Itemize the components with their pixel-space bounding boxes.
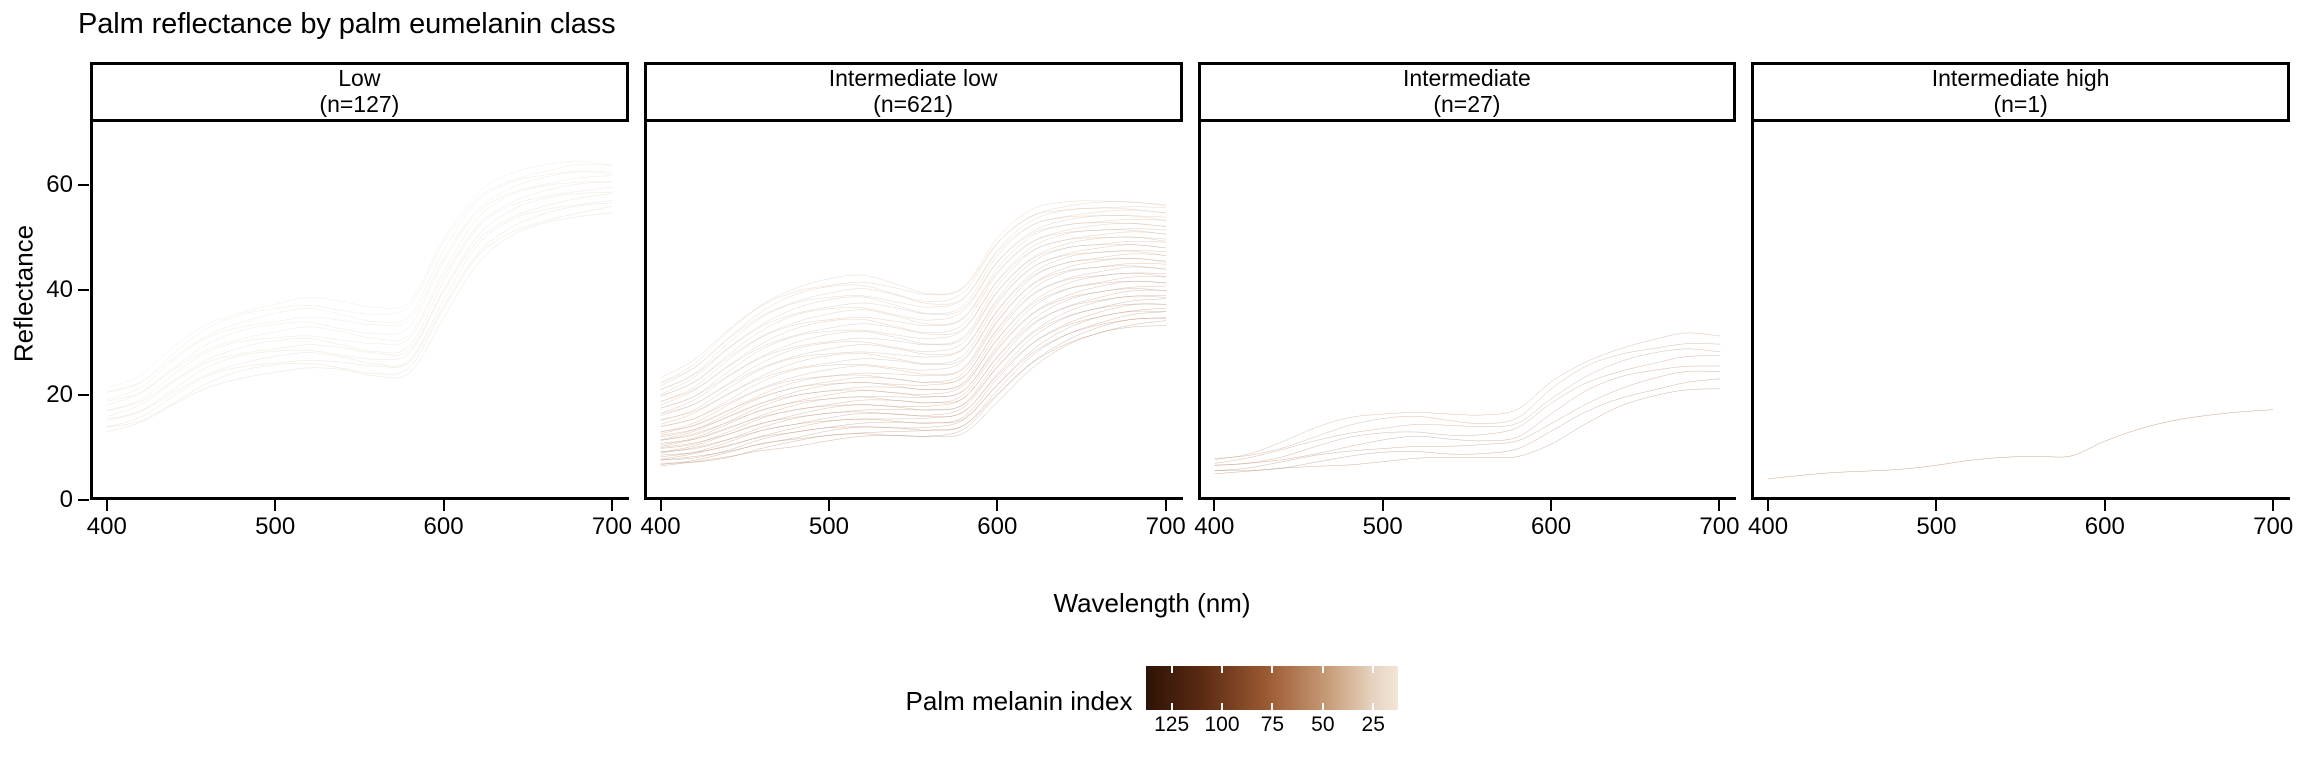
- x-tick-label: 500: [1916, 513, 1956, 541]
- legend-tick-label: 100: [1205, 713, 1240, 737]
- y-tick-mark: [78, 499, 89, 501]
- x-axis: 400500600700: [1751, 500, 2290, 552]
- x-tick-label: 600: [1531, 513, 1571, 541]
- x-tick-mark: [2272, 500, 2274, 511]
- plot-area: [1751, 122, 2290, 500]
- legend-tick-label: 50: [1311, 713, 1334, 737]
- x-tick-mark: [1935, 500, 1937, 511]
- x-tick-mark: [274, 500, 276, 511]
- legend-tick-mark: [1171, 666, 1173, 673]
- facet-panels: Low(n=127)400500600700Intermediate low(n…: [90, 62, 2290, 552]
- spectrum-line: [107, 182, 612, 405]
- x-axis: 400500600700: [644, 500, 1183, 552]
- facet-strip-label: Intermediate high: [1932, 66, 2110, 92]
- facet-strip: Intermediate high(n=1): [1751, 62, 2290, 122]
- y-tick-mark: [78, 184, 89, 186]
- y-axis: 0204060: [0, 0, 95, 768]
- spectrum-line: [107, 176, 612, 401]
- spectrum-line: [661, 237, 1166, 408]
- x-tick-label: 600: [977, 513, 1017, 541]
- x-tick-label: 500: [1363, 513, 1403, 541]
- spectra-lines: [90, 122, 629, 500]
- y-tick-label: 20: [46, 381, 73, 409]
- y-tick-mark: [78, 394, 89, 396]
- spectrum-line: [107, 203, 612, 427]
- facet-strip-count: (n=621): [873, 92, 953, 118]
- page-title: Palm reflectance by palm eumelanin class: [78, 8, 616, 41]
- x-tick-label: 700: [2253, 513, 2293, 541]
- legend-tick-label: 125: [1154, 713, 1189, 737]
- x-tick-mark: [611, 500, 613, 511]
- spectrum-line: [1214, 343, 1719, 458]
- x-axis-title: Wavelength (nm): [0, 588, 2304, 619]
- x-tick-label: 600: [2085, 513, 2125, 541]
- y-tick-label: 60: [46, 171, 73, 199]
- spectrum-line: [661, 286, 1166, 443]
- spectrum-line: [661, 219, 1166, 395]
- x-tick-mark: [1718, 500, 1720, 511]
- facet-strip-count: (n=27): [1433, 92, 1500, 118]
- facet-strip-label: Low: [338, 66, 380, 92]
- panel-left-axis-line: [90, 122, 93, 500]
- facet-strip-count: (n=127): [319, 92, 399, 118]
- spectrum-line: [107, 187, 612, 411]
- spectrum-line: [661, 208, 1166, 386]
- spectrum-line: [661, 312, 1166, 460]
- facet-strip-label: Intermediate low: [829, 66, 998, 92]
- panel-left-axis-line: [1198, 122, 1201, 500]
- x-tick-label: 700: [1146, 513, 1186, 541]
- plot-area: [90, 122, 629, 500]
- panel-left-axis-line: [1751, 122, 1754, 500]
- x-tick-label: 700: [1699, 513, 1739, 541]
- spectrum-line: [661, 237, 1166, 414]
- legend-tick-mark: [1372, 703, 1374, 710]
- legend-tick-mark: [1322, 703, 1324, 710]
- legend-tick-mark: [1271, 703, 1273, 710]
- spectrum-line: [1768, 410, 2273, 479]
- spectrum-line: [661, 266, 1166, 434]
- facet-panel: Intermediate(n=27)400500600700: [1198, 62, 1737, 552]
- spectrum-line: [1214, 379, 1719, 471]
- spectrum-line: [107, 171, 612, 393]
- chart-root: Palm reflectance by palm eumelanin class…: [0, 0, 2304, 768]
- spectrum-line: [107, 172, 612, 400]
- x-axis: 400500600700: [1198, 500, 1737, 552]
- legend-tick-mark: [1372, 666, 1374, 673]
- spectrum-line: [1214, 371, 1719, 471]
- x-tick-label: 400: [87, 513, 127, 541]
- legend-tick-mark: [1221, 666, 1223, 673]
- x-tick-label: 400: [1194, 513, 1234, 541]
- spectrum-line: [661, 202, 1166, 384]
- legend-tick-mark: [1221, 703, 1223, 710]
- legend-tick-mark: [1271, 666, 1273, 673]
- spectrum-line: [661, 241, 1166, 414]
- spectrum-line: [661, 215, 1166, 394]
- spectrum-line: [661, 273, 1166, 435]
- legend-tick-mark: [1322, 666, 1324, 673]
- facet-panel: Intermediate low(n=621)400500600700: [644, 62, 1183, 552]
- x-tick-mark: [1165, 500, 1167, 511]
- spectrum-line: [1214, 356, 1719, 465]
- spectrum-line: [107, 206, 612, 427]
- x-tick-mark: [443, 500, 445, 511]
- legend-tick-labels: 125100755025: [1146, 713, 1398, 743]
- x-tick-label: 500: [255, 513, 295, 541]
- legend: Palm melanin index 125100755025: [0, 666, 2304, 743]
- x-tick-mark: [2104, 500, 2106, 511]
- y-tick-label: 40: [46, 276, 73, 304]
- spectrum-line: [107, 192, 612, 416]
- plot-area: [644, 122, 1183, 500]
- facet-strip: Low(n=127): [90, 62, 629, 122]
- x-tick-mark: [106, 500, 108, 511]
- spectrum-line: [661, 326, 1166, 466]
- panel-left-axis-line: [644, 122, 647, 500]
- spectra-lines: [644, 122, 1183, 500]
- facet-strip-label: Intermediate: [1403, 66, 1531, 92]
- spectrum-line: [661, 230, 1166, 406]
- x-tick-label: 400: [641, 513, 681, 541]
- legend-tick-label: 25: [1362, 713, 1385, 737]
- spectrum-line: [107, 201, 612, 421]
- spectrum-line: [1214, 389, 1719, 474]
- legend-title: Palm melanin index: [906, 666, 1133, 717]
- x-tick-mark: [1550, 500, 1552, 511]
- spectrum-line: [661, 258, 1166, 432]
- x-tick-label: 700: [592, 513, 632, 541]
- spectra-lines: [1198, 122, 1737, 500]
- legend-colorbar-wrap: 125100755025: [1146, 666, 1398, 743]
- x-tick-mark: [996, 500, 998, 511]
- plot-area: [1198, 122, 1737, 500]
- spectrum-line: [661, 232, 1166, 408]
- y-tick-mark: [78, 289, 89, 291]
- spectrum-line: [107, 213, 612, 432]
- x-tick-mark: [1767, 500, 1769, 511]
- spectrum-line: [661, 318, 1166, 464]
- spectra-lines: [1751, 122, 2290, 500]
- spectrum-line: [661, 223, 1166, 402]
- spectrum-line: [661, 201, 1166, 378]
- x-tick-label: 400: [1748, 513, 1788, 541]
- x-axis: 400500600700: [90, 500, 629, 552]
- y-tick-label: 0: [60, 486, 73, 514]
- spectrum-line: [1214, 349, 1719, 464]
- spectrum-line: [661, 304, 1166, 453]
- facet-strip: Intermediate(n=27): [1198, 62, 1737, 122]
- x-tick-mark: [660, 500, 662, 511]
- facet-strip-count: (n=1): [1993, 92, 2047, 118]
- facet-strip: Intermediate low(n=621): [644, 62, 1183, 122]
- facet-panel: Low(n=127)400500600700: [90, 62, 629, 552]
- x-tick-mark: [1382, 500, 1384, 511]
- legend-tick-mark: [1171, 703, 1173, 710]
- legend-tick-label: 75: [1261, 713, 1284, 737]
- x-tick-mark: [1213, 500, 1215, 511]
- spectrum-line: [107, 193, 612, 419]
- x-tick-mark: [828, 500, 830, 511]
- x-tick-label: 500: [809, 513, 849, 541]
- x-tick-label: 600: [424, 513, 464, 541]
- facet-panel: Intermediate high(n=1)400500600700: [1751, 62, 2290, 552]
